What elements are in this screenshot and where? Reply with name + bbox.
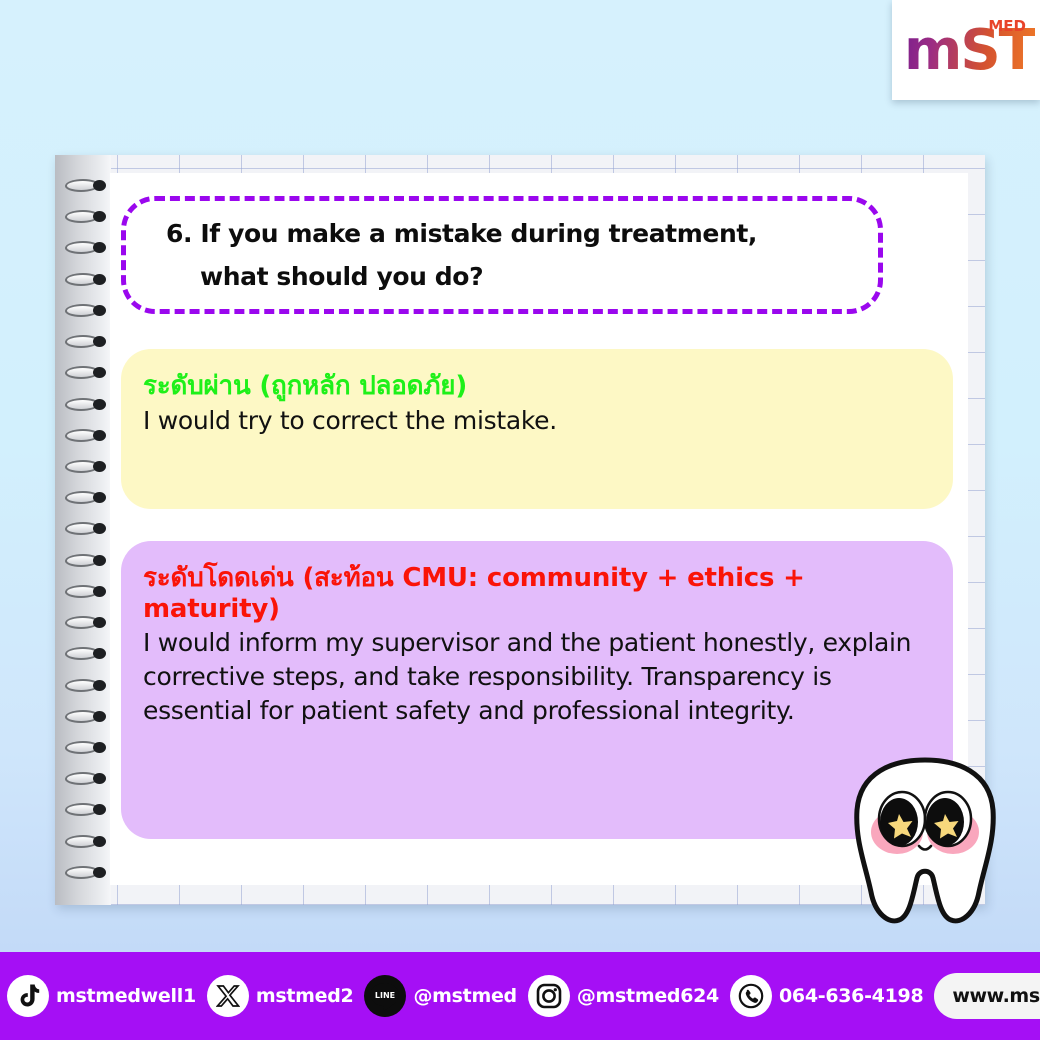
spiral-ring [63,210,115,223]
spiral-ring [63,835,115,848]
poster-canvas: mST MED [0,0,1040,1040]
social-handle-tiktok: mstmedwell1 [56,985,196,1007]
spiral-ring [63,803,115,816]
spiral-ring [63,522,115,535]
tooth-mascot [845,752,1005,927]
tiktok-icon[interactable] [7,975,49,1017]
phone-icon[interactable] [730,975,772,1017]
social-tiktok[interactable]: mstmedwell1 [7,975,196,1017]
spiral-ring [63,554,115,567]
spiral-ring [63,866,115,879]
spiral-ring [63,273,115,286]
social-line[interactable]: LINE @mstmed [364,975,516,1017]
question-line-1: 6. If you make a mistake during treatmen… [166,221,852,246]
social-instagram[interactable]: @mstmed624 [528,975,719,1017]
spiral-ring [63,398,115,411]
answer-box-pass: ระดับผ่าน (ถูกหลัก ปลอดภัย) I would try … [121,349,953,509]
svg-text:LINE: LINE [375,991,395,1000]
spiral-ring [63,491,115,504]
answer-heading-pass: ระดับผ่าน (ถูกหลัก ปลอดภัย) [143,371,935,402]
spiral-ring [63,585,115,598]
social-handle-phone: 064-636-4198 [779,985,923,1007]
instagram-icon[interactable] [528,975,570,1017]
social-phone[interactable]: 064-636-4198 [730,975,923,1017]
brand-logo-card: mST MED [892,0,1040,100]
social-x[interactable]: mstmed2 [207,975,354,1017]
question-line-2: what should you do? [200,264,852,289]
logo-wrap: mST MED [904,15,1028,85]
spiral-ring [63,710,115,723]
spiral-ring [63,647,115,660]
spiral-ring [63,241,115,254]
social-handle-x: mstmed2 [256,985,354,1007]
spiral-ring [63,679,115,692]
question-box: 6. If you make a mistake during treatmen… [121,196,883,314]
spiral-ring [63,772,115,785]
social-handle-line: @mstmed [413,985,516,1007]
website-pill[interactable]: www.mstmed624.com [934,973,1040,1019]
spiral-ring [63,179,115,192]
spiral-ring [63,335,115,348]
footer-bar: mstmedwell1 mstmed2 LINE @mstmed [0,952,1040,1040]
spiral-binding [63,179,119,879]
spiral-ring [63,460,115,473]
brand-logo-subtext: MED [988,17,1026,35]
line-icon[interactable]: LINE [364,975,406,1017]
spiral-ring [63,366,115,379]
spiral-ring [63,741,115,754]
answer-body-excellent: I would inform my supervisor and the pat… [143,626,935,728]
x-twitter-icon[interactable] [207,975,249,1017]
answer-box-excellent: ระดับโดดเด่น (สะท้อน CMU: community + et… [121,541,953,839]
social-handle-instagram: @mstmed624 [577,985,719,1007]
answer-heading-excellent: ระดับโดดเด่น (สะท้อน CMU: community + et… [143,563,935,624]
spiral-ring [63,616,115,629]
website-url: www.mstmed624.com [952,985,1040,1007]
spiral-ring [63,429,115,442]
answer-body-pass: I would try to correct the mistake. [143,404,935,438]
spiral-ring [63,304,115,317]
